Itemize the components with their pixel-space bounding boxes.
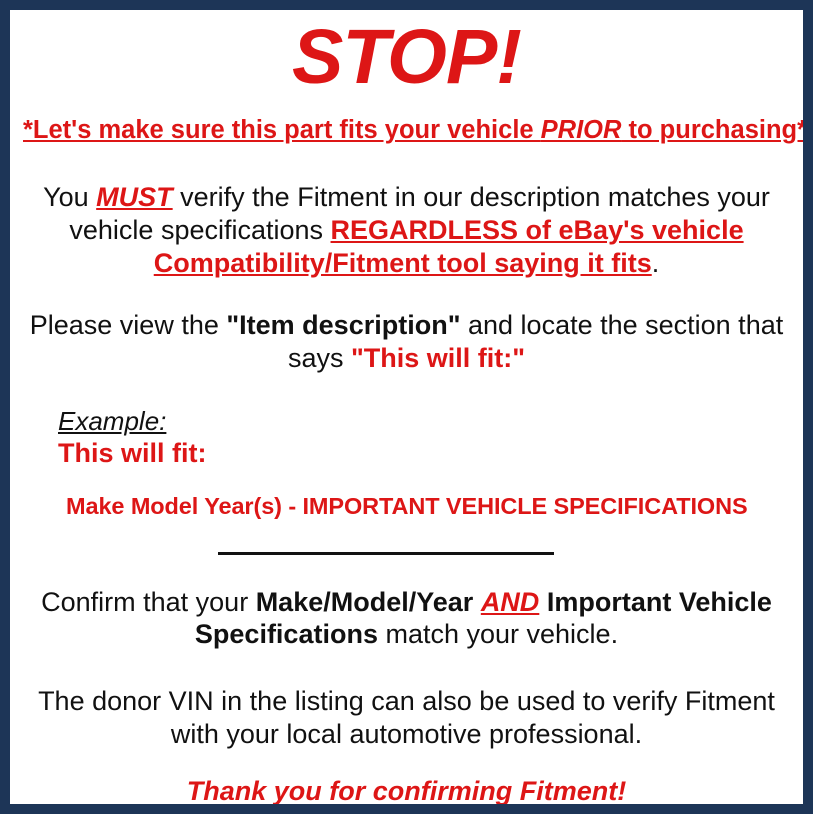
example-label-row: Example:: [58, 407, 790, 436]
thank-you-line: Thank you for confirming Fitment!: [23, 750, 790, 808]
this-will-fit-emphasis: "This will fit:": [351, 343, 525, 373]
paragraph-donor-vin: The donor VIN in the listing can also be…: [23, 651, 790, 750]
example-this-will-fit-line: This will fit:: [58, 436, 790, 469]
confirm-space1: [473, 587, 481, 617]
make-model-year-emphasis: Make/Model/Year: [256, 587, 474, 617]
and-emphasis: AND: [481, 587, 540, 617]
paragraph-confirm: Confirm that your Make/Model/Year AND Im…: [23, 560, 790, 651]
section-divider: [218, 552, 554, 555]
tagline-lead-text: *Let's make sure this part fits your veh…: [23, 116, 541, 144]
confirm-part2: match your vehicle.: [378, 619, 618, 649]
example-specification-line: Make Model Year(s) - IMPORTANT VEHICLE S…: [58, 469, 790, 520]
notice-content-area: STOP! *Let's make sure this part fits yo…: [10, 10, 803, 804]
must-part3: .: [652, 248, 660, 278]
fitment-notice-card: STOP! *Let's make sure this part fits yo…: [0, 0, 813, 814]
confirm-part1: Confirm that your: [41, 587, 256, 617]
paragraph-must-verify: You MUST verify the Fitment in our descr…: [23, 145, 790, 279]
item-description-emphasis: "Item description": [226, 310, 460, 340]
example-block: Example: This will fit: Make Model Year(…: [23, 375, 790, 520]
paragraph-item-description: Please view the "Item description" and l…: [23, 279, 790, 374]
tagline-emphasis-prior: PRIOR: [541, 116, 622, 144]
itemdesc-part1: Please view the: [30, 310, 227, 340]
example-label: Example:: [58, 407, 166, 436]
confirm-space2: [539, 587, 547, 617]
stop-heading: STOP!: [23, 10, 790, 96]
divider-wrapper: [23, 520, 790, 560]
must-emphasis: MUST: [96, 182, 173, 212]
must-part1: You: [43, 182, 96, 212]
tagline-tail-text: to purchasing*: [621, 116, 807, 144]
tagline-banner: *Let's make sure this part fits your veh…: [23, 96, 790, 145]
